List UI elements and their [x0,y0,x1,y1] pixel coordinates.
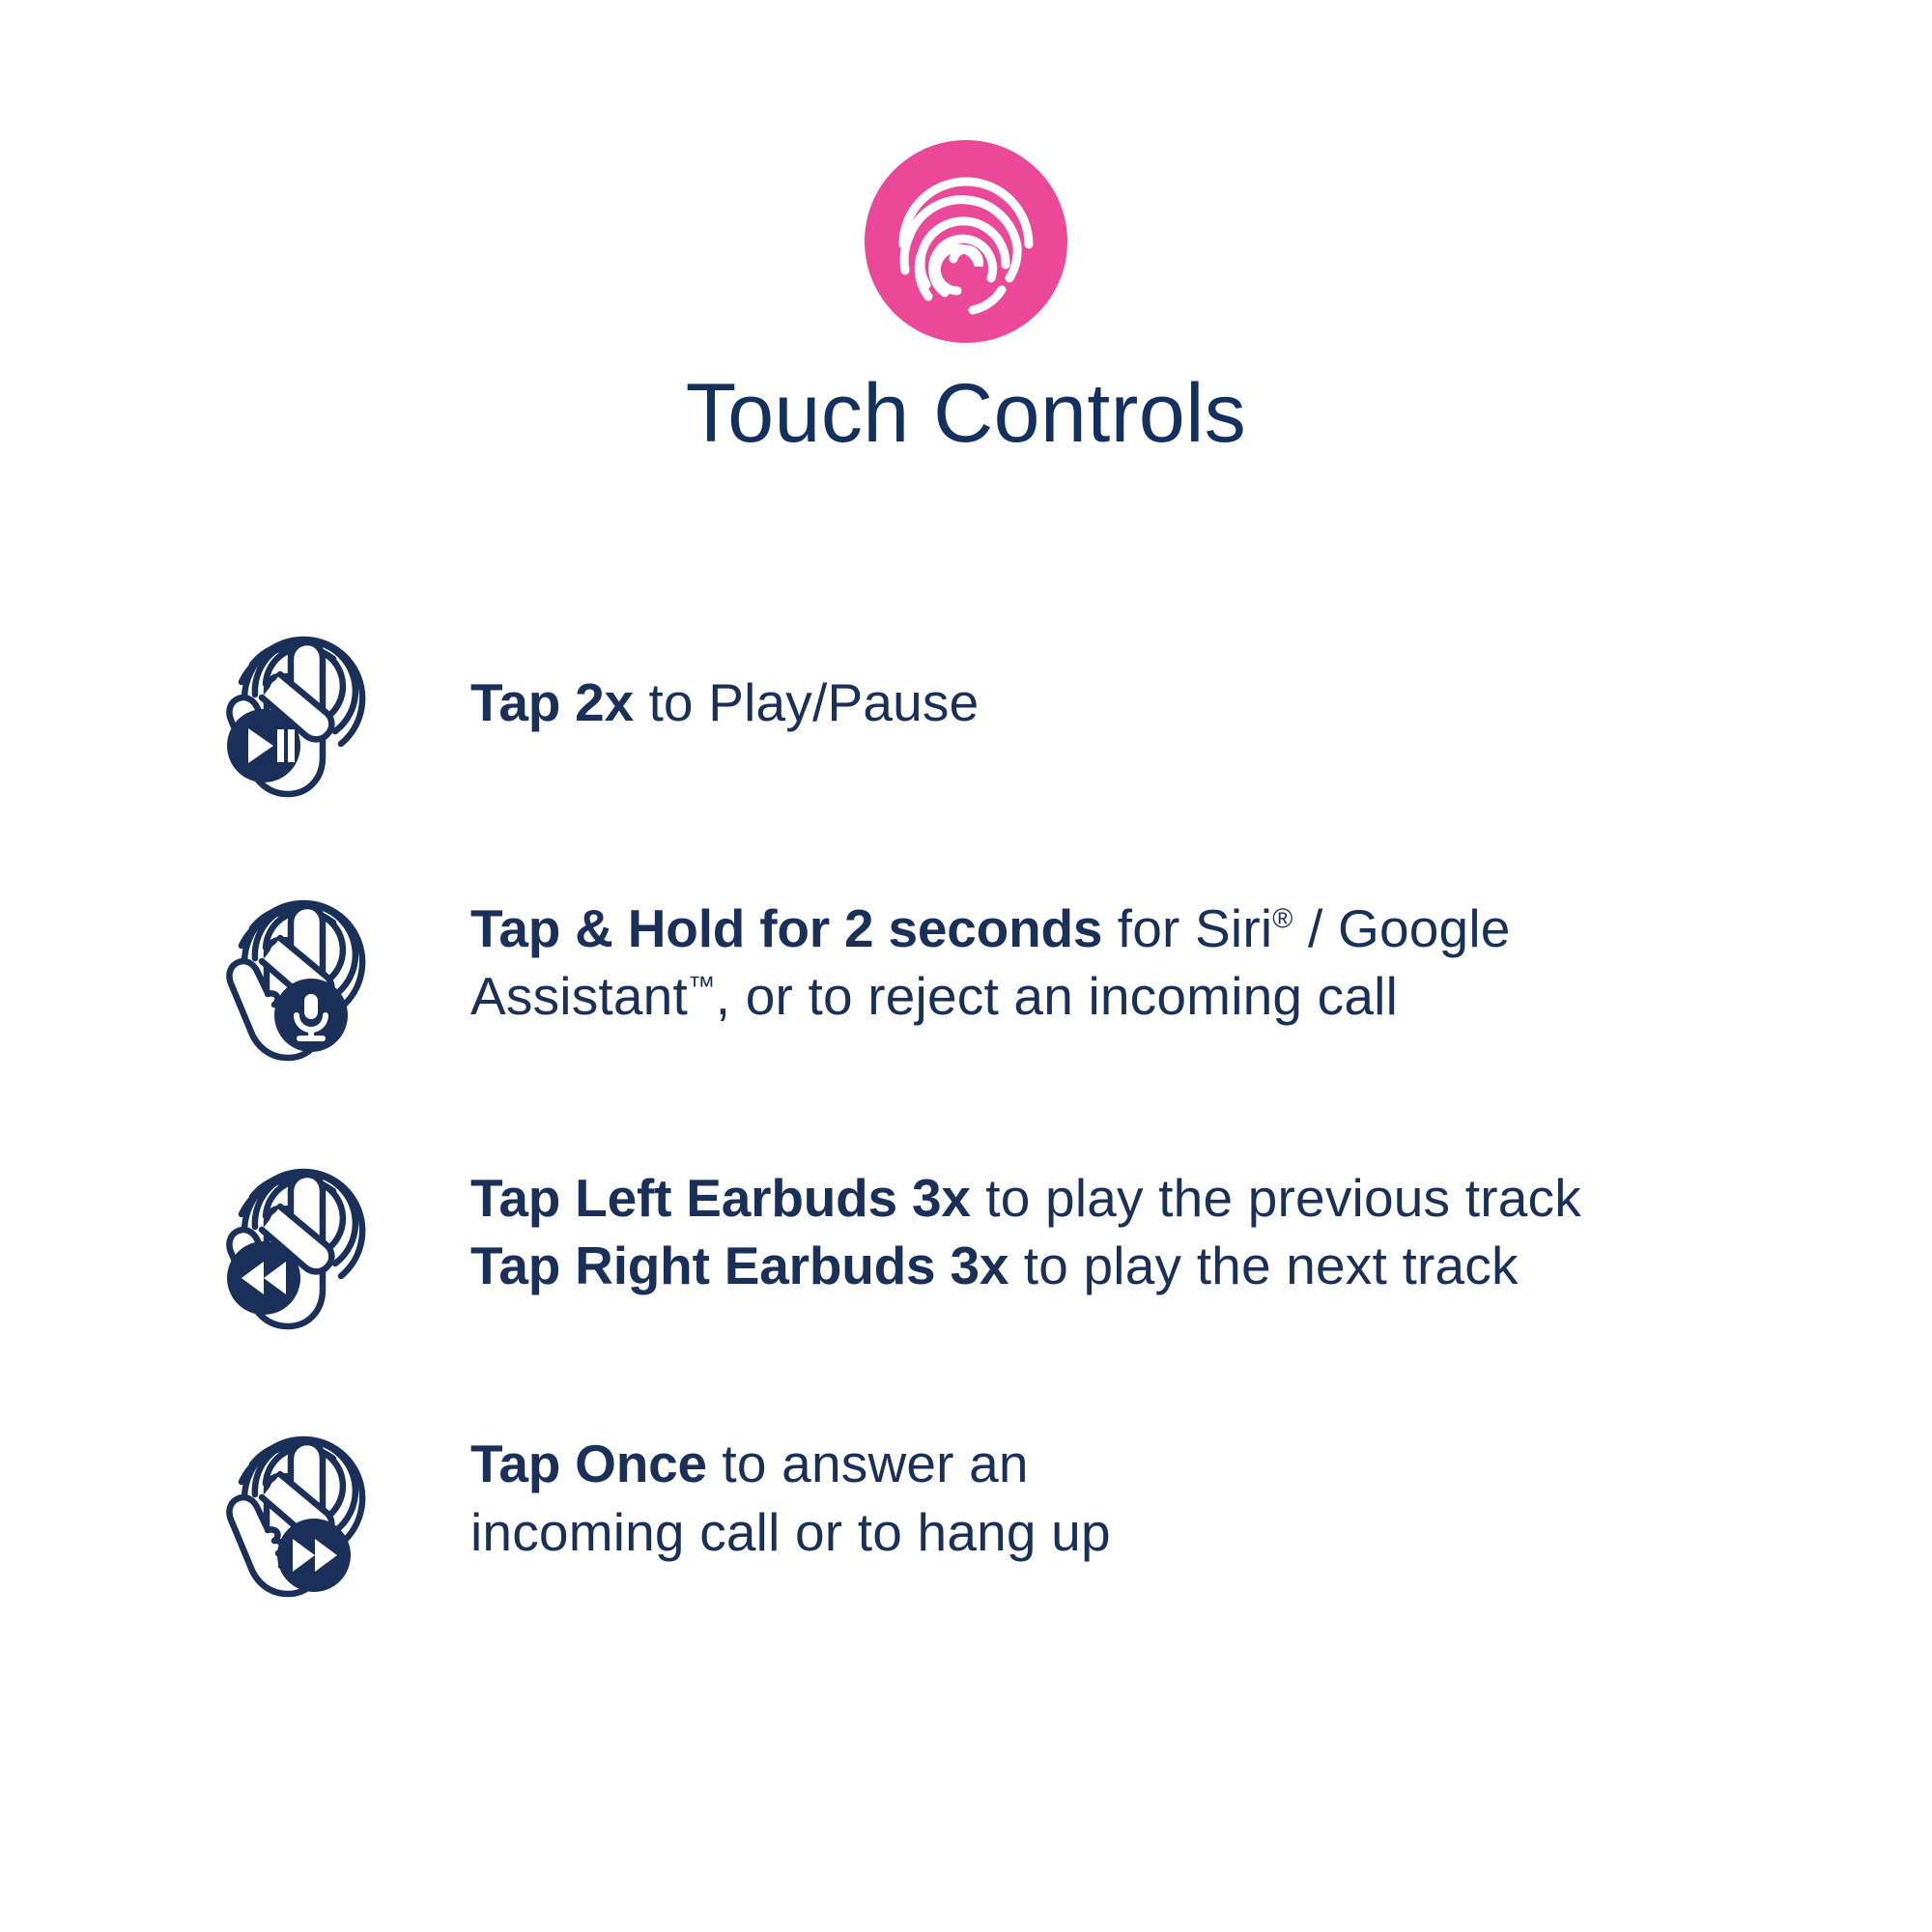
tap-hand-play-pause-icon [188,589,411,811]
list-item-detail: Assistant [470,966,688,1026]
list-item-text: Tap 2x to Play/Pause [470,668,1932,736]
list-item: Tap & Hold for 2 seconds for Siri® / Goo… [0,821,1932,1101]
list-item-detail: to answer an [707,1434,1029,1493]
list-item-emphasis: Tap Once [470,1434,707,1493]
page-title: Touch Controls [0,372,1932,455]
registered-mark: ® [1272,903,1293,934]
list-item-text: Tap & Hold for 2 seconds for Siri® / Goo… [470,895,1932,1031]
fingerprint-badge [865,140,1067,343]
list-item-detail: incoming call or to hang up [470,1502,1111,1562]
trademark-mark: ™ [688,972,716,1003]
controls-list: Tap 2x to Play/Pause [0,580,1932,1628]
list-item-detail: to play the previous track [971,1168,1581,1228]
list-item-emphasis: Tap Right Earbuds 3x [470,1236,1009,1295]
list-item-text: Tap Once to answer an incoming call or t… [470,1430,1932,1566]
list-item-text: Tap Left Earbuds 3x to play the previous… [470,1164,1932,1300]
list-item-detail-cont: , or to reject an incoming call [716,966,1398,1026]
list-item-detail: to play the next track [1009,1236,1518,1295]
list-item-detail: to Play/Pause [634,672,979,732]
fingerprint-icon [865,140,1067,343]
touch-controls-infographic: Touch Controls [0,0,1932,1932]
tap-hand-rewind-icon [188,1122,411,1344]
list-item-emphasis: Tap & Hold for 2 seconds [470,898,1102,958]
list-item: Tap Once to answer an incoming call or t… [0,1362,1932,1628]
list-item: Tap 2x to Play/Pause [0,580,1932,821]
list-item: Tap Left Earbuds 3x to play the previous… [0,1101,1932,1362]
tap-hand-microphone-icon [188,853,411,1075]
list-item-emphasis: Tap 2x [470,672,634,732]
list-item-emphasis: Tap Left Earbuds 3x [470,1168,971,1228]
list-item-detail-cont: / Google [1293,898,1511,958]
tap-hand-fast-forward-icon [188,1389,411,1611]
list-item-detail: for Siri [1102,898,1272,958]
